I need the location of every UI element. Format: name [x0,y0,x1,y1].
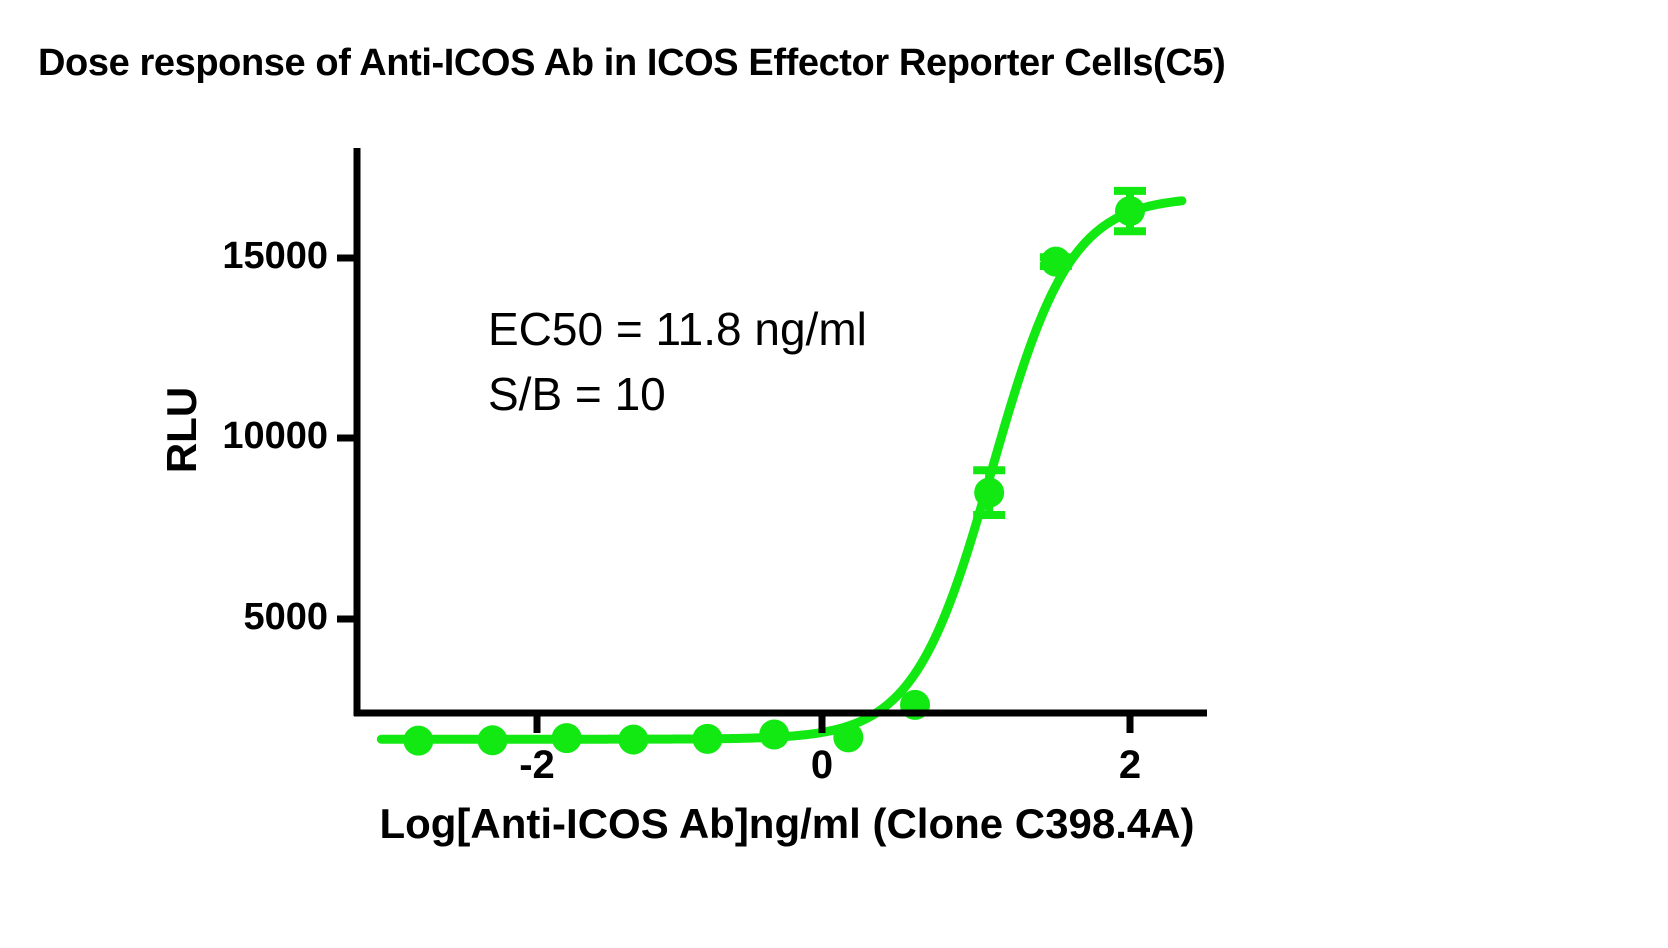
plot-area: 5000 10000 15000 -2 0 2 RLU Log[Anti-ICO… [0,0,1668,948]
annotation-ec50: EC50 = 11.8 ng/ml [488,303,867,355]
data-point [974,478,1004,508]
data-point [759,720,789,750]
data-point [692,724,722,754]
data-point [478,725,508,755]
y-axis-title: RLU [158,387,205,473]
annotation-sb: S/B = 10 [488,368,666,420]
x-tick-label-2: 2 [1119,743,1141,787]
data-point [552,723,582,753]
data-point [1115,196,1145,226]
x-tick-label-neg2: -2 [519,743,555,787]
x-tick-label-0: 0 [811,743,833,787]
data-point [618,725,648,755]
data-point [403,726,433,756]
chart-root: Dose response of Anti-ICOS Ab in ICOS Ef… [0,0,1668,948]
x-axis-title: Log[Anti-ICOS Ab]ng/ml (Clone C398.4A) [379,800,1194,847]
fit-curve [381,201,1182,739]
y-tick-label-5000: 5000 [243,596,328,638]
y-tick-label-10000: 10000 [222,415,328,457]
data-point [833,722,863,752]
y-tick-label-15000: 15000 [222,235,328,277]
data-point [1041,247,1071,277]
data-series-layer [381,191,1182,756]
